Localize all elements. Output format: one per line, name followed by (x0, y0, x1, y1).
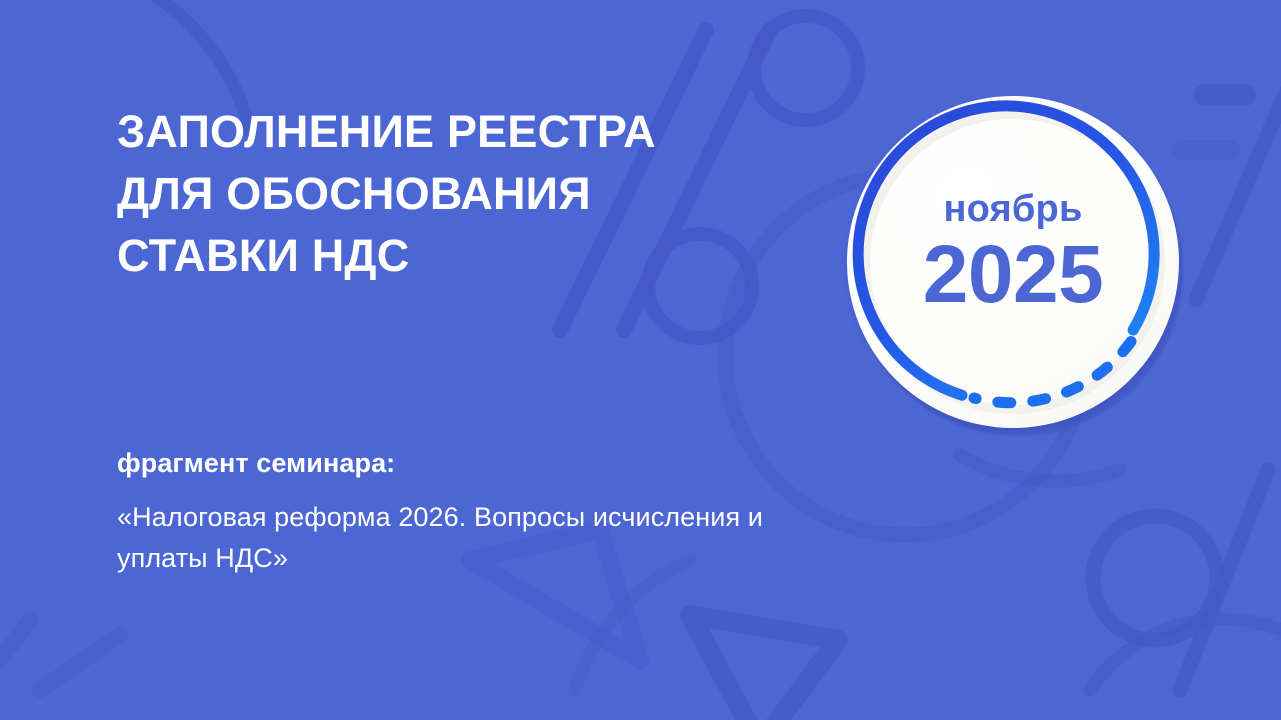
date-badge: ноябрь 2025 (843, 94, 1191, 442)
badge-year-label: 2025 (923, 233, 1103, 317)
arc-bottom-right-icon (1090, 619, 1281, 690)
slide-title: ЗАПОЛНЕНИЕ РЕЕСТРА ДЛЯ ОБОСНОВАНИЯ СТАВК… (117, 101, 817, 287)
slash-bottom-right-icon (1180, 470, 1268, 690)
text-column: ЗАПОЛНЕНИЕ РЕЕСТРА ДЛЯ ОБОСНОВАНИЯ СТАВК… (117, 0, 817, 720)
presentation-slide: ЗАПОЛНЕНИЕ РЕЕСТРА ДЛЯ ОБОСНОВАНИЯ СТАВК… (0, 0, 1281, 720)
badge-month-label: ноябрь (943, 189, 1082, 229)
slash-bottom-left-2-icon (0, 620, 30, 660)
slash-right-edge-icon (1196, 60, 1281, 300)
subtitle-block: фрагмент семинара: «Налоговая реформа 20… (117, 446, 817, 579)
arc-under-badge-icon (960, 455, 1120, 481)
subtitle-lead: фрагмент семинара: (117, 446, 817, 480)
subtitle-body: «Налоговая реформа 2026. Вопросы исчисле… (117, 497, 777, 579)
slash-bottom-left-icon (40, 635, 120, 690)
badge-text: ноябрь 2025 (847, 96, 1179, 428)
circle-bottom-right-icon (1093, 516, 1217, 640)
